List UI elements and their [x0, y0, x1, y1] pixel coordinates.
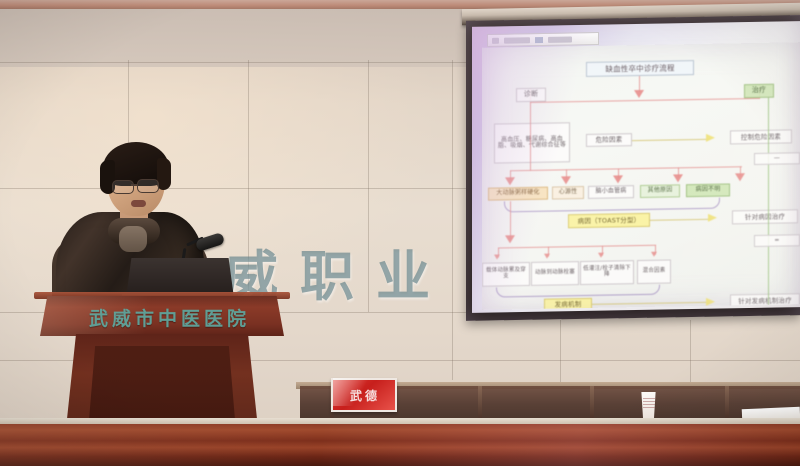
lecture-hall-photo: 威 职 业 缺血性卒中诊疗流程 诊断 治疗 高血压、糖尿病、高血脂、吸烟、代谢综…	[0, 0, 800, 466]
paper-cup-print	[643, 398, 655, 408]
toolbar-field-2[interactable]	[548, 36, 572, 42]
node-risk: 危险因素	[586, 133, 632, 147]
podium-sign-char-6: 医	[204, 304, 224, 331]
wall-seam	[560, 320, 561, 382]
podium-sign-char-1: 武	[89, 304, 109, 331]
node-diagnosis: 诊断	[516, 88, 546, 103]
speaker-glasses-left-lens	[112, 180, 134, 194]
powerpoint-toolbar[interactable]	[487, 32, 599, 47]
speaker-glasses-right-lens	[137, 179, 159, 193]
node-etiology-treatment: 针对病因治疗	[732, 209, 798, 224]
node-etiology-0: 大动脉粥样硬化	[488, 187, 548, 201]
bench-divider	[478, 386, 482, 420]
wall-char-2: 职	[300, 232, 354, 311]
podium-sign-char-4: 中	[158, 304, 178, 331]
podium-sign: 武 威 市 中 医 医 院	[78, 305, 258, 329]
node-etiology-2: 脑小血管病	[588, 185, 634, 199]
bench-divider	[590, 386, 594, 420]
node-mechanism-1: 动脉到动脉栓塞	[531, 261, 579, 286]
flowchart: 缺血性卒中诊疗流程 诊断 治疗 高血压、糖尿病、高血脂、吸烟、代谢综合征等 危险…	[482, 42, 800, 310]
node-mechanism-2: 低灌注/栓子清除下降	[580, 260, 634, 285]
toolbar-field-1[interactable]	[504, 37, 530, 43]
toolbar-icon-2[interactable]	[535, 37, 543, 43]
speaker-glasses-bridge	[131, 184, 138, 186]
podium-sign-char-3: 市	[135, 304, 155, 331]
node-etiology-4: 病因不明	[686, 183, 730, 197]
node-risk-factors: 高血压、糖尿病、高血脂、吸烟、代谢综合征等	[494, 122, 570, 163]
brace-mechanism	[496, 285, 660, 298]
speaker-mouth	[131, 200, 146, 207]
wall-seam	[0, 188, 470, 189]
wall-seam	[690, 320, 691, 382]
podium-sign-char-2: 威	[112, 304, 132, 331]
node-mechanism-0: 载体动脉累及穿支	[482, 262, 530, 287]
node-toast: 病因（TOAST分型）	[568, 213, 650, 228]
wall-char-3: 业	[376, 232, 430, 311]
nameplate-glare	[333, 378, 373, 406]
bench-divider	[725, 386, 729, 420]
podium-sign-char-7: 院	[227, 304, 247, 331]
table-highlight	[0, 424, 800, 466]
node-etiology-3: 其他原因	[640, 184, 680, 198]
powerpoint-slide: 缺血性卒中诊疗流程 诊断 治疗 高血压、糖尿病、高血脂、吸烟、代谢综合征等 危险…	[482, 42, 800, 310]
node-mechanism-3: 混合因素	[637, 259, 671, 284]
wall-seam	[0, 62, 470, 63]
wall-seam	[452, 60, 453, 380]
podium-sign-char-5: 医	[181, 304, 201, 331]
treatment-detail-2: =	[754, 234, 800, 247]
brace-etiology	[504, 198, 720, 213]
speaker-scarf	[119, 226, 147, 252]
treatment-detail-1: —	[754, 152, 800, 165]
node-control-risk: 控制危险因素	[730, 129, 792, 144]
toolbar-icon-1[interactable]	[492, 37, 499, 43]
node-treatment: 治疗	[744, 84, 774, 99]
flowchart-title: 缺血性卒中诊疗流程	[586, 60, 694, 77]
speaker-hair-right	[157, 158, 171, 190]
node-etiology-1: 心源性	[552, 186, 584, 200]
